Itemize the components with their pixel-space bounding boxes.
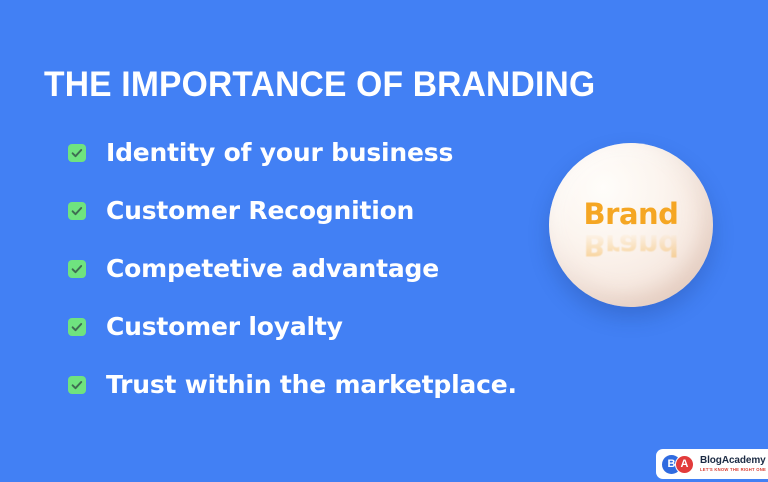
list-item-label: Competetive advantage [106, 254, 439, 284]
check-icon [70, 204, 84, 218]
checkbox-checked[interactable] [68, 202, 86, 220]
check-icon [70, 146, 84, 160]
brand-word-reflection: Brand [549, 230, 713, 260]
list-item-label: Trust within the marketplace. [106, 370, 517, 400]
list-item-label: Identity of your business [106, 138, 453, 168]
logo-initial-a: A [675, 455, 694, 474]
logo-name: BlogAcademy [700, 455, 766, 466]
list-item-label: Customer Recognition [106, 196, 414, 226]
list-item[interactable]: Identity of your business [68, 133, 568, 173]
logo-text-block: BlogAcademy LET'S KNOW THE RIGHT ONE [700, 455, 766, 473]
list-item-label: Customer loyalty [106, 312, 343, 342]
check-icon [70, 262, 84, 276]
brand-sphere-graphic: Brand Brand [549, 143, 713, 307]
logo-tagline: LET'S KNOW THE RIGHT ONE [700, 467, 766, 473]
list-item[interactable]: Customer loyalty [68, 307, 568, 347]
blogacademy-logo-badge[interactable]: B A BlogAcademy LET'S KNOW THE RIGHT ONE [656, 449, 768, 479]
sphere-text-group: Brand Brand [549, 199, 713, 260]
brand-word: Brand [549, 199, 713, 229]
list-item[interactable]: Competetive advantage [68, 249, 568, 289]
logo-mark: B A [662, 455, 695, 474]
checkbox-checked[interactable] [68, 376, 86, 394]
checkbox-checked[interactable] [68, 144, 86, 162]
checkbox-checked[interactable] [68, 318, 86, 336]
check-icon [70, 320, 84, 334]
check-icon [70, 378, 84, 392]
list-item[interactable]: Trust within the marketplace. [68, 365, 568, 405]
branding-slide: THE IMPORTANCE OF BRANDING Identity of y… [0, 0, 768, 482]
benefits-checklist: Identity of your business Customer Recog… [68, 133, 568, 405]
page-title: THE IMPORTANCE OF BRANDING [44, 64, 658, 106]
list-item[interactable]: Customer Recognition [68, 191, 568, 231]
checkbox-checked[interactable] [68, 260, 86, 278]
